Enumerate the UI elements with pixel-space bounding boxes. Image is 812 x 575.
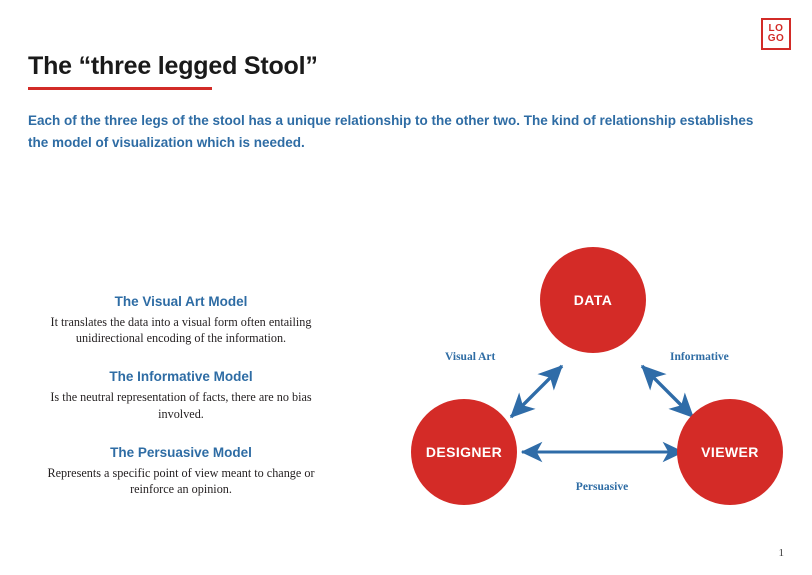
diagram-node-data[interactable]: DATA xyxy=(540,247,646,353)
edge-label-informative: Informative xyxy=(670,351,729,363)
model-heading: The Visual Art Model xyxy=(16,293,346,311)
edge-label-visual-art: Visual Art xyxy=(445,351,496,363)
page-number: 1 xyxy=(779,547,785,559)
diagram-node-designer[interactable]: DESIGNER xyxy=(411,399,517,505)
designer-node-label: DESIGNER xyxy=(426,444,502,460)
model-item-persuasive: The Persuasive Model Represents a specif… xyxy=(16,444,346,497)
model-list: The Visual Art Model It translates the d… xyxy=(16,293,346,497)
model-body: It translates the data into a visual for… xyxy=(16,314,346,347)
title-underline-rule xyxy=(28,87,212,90)
edge-label-persuasive: Persuasive xyxy=(576,481,628,493)
model-heading: The Persuasive Model xyxy=(16,444,346,462)
informative-arrow xyxy=(642,366,693,417)
three-legged-stool-diagram: Visual Art Informative Persuasive DATA D… xyxy=(380,228,800,528)
logo: LO GO xyxy=(761,18,791,50)
model-heading: The Informative Model xyxy=(16,368,346,386)
visual-art-arrow xyxy=(511,366,562,417)
model-item-informative: The Informative Model Is the neutral rep… xyxy=(16,368,346,421)
model-body: Represents a specific point of view mean… xyxy=(16,465,346,498)
logo-line-2: GO xyxy=(768,34,785,44)
diagram-node-viewer[interactable]: VIEWER xyxy=(677,399,783,505)
model-item-visual-art: The Visual Art Model It translates the d… xyxy=(16,293,346,346)
subtitle-text: Each of the three legs of the stool has … xyxy=(28,110,768,154)
edge-persuasive: Persuasive xyxy=(522,452,683,493)
page-title: The “three legged Stool” xyxy=(28,52,318,81)
data-node-label: DATA xyxy=(574,292,612,308)
model-body: Is the neutral representation of facts, … xyxy=(16,389,346,422)
viewer-node-label: VIEWER xyxy=(701,444,759,460)
slide-canvas: LO GO The “three legged Stool” Each of t… xyxy=(0,0,812,575)
